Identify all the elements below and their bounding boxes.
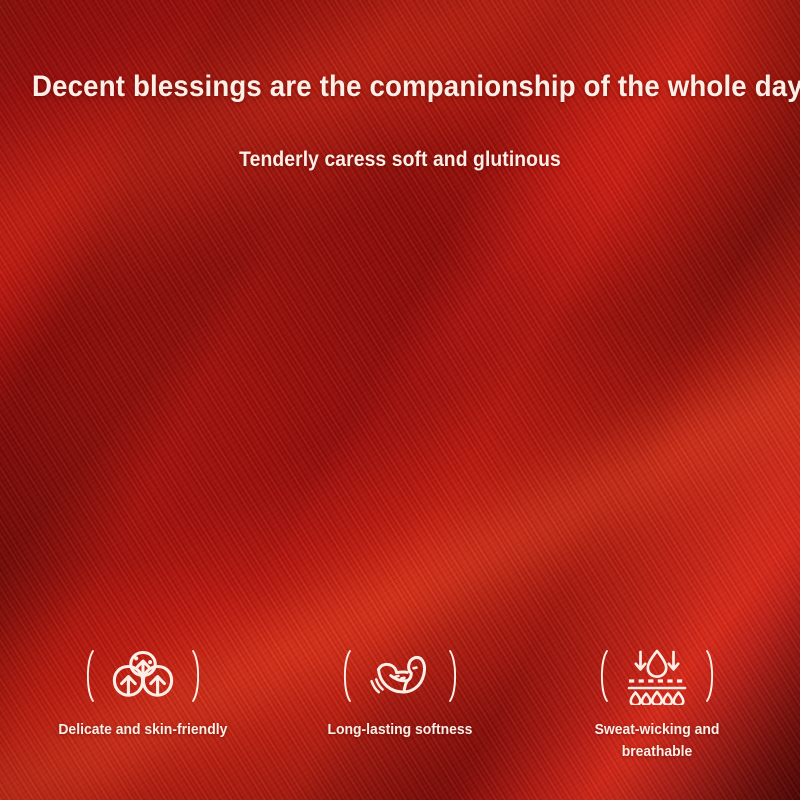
feature-icon-group <box>340 645 460 707</box>
bracket-right-icon <box>190 648 203 704</box>
feature-icon-group <box>597 645 717 707</box>
feature-list: Delicate and skin-friendly <box>0 645 800 762</box>
bracket-left-icon <box>597 648 610 704</box>
feature-label: Delicate and skin-friendly <box>58 719 227 740</box>
feature-item-skin-friendly: Delicate and skin-friendly <box>14 645 271 740</box>
banner-headline: Decent blessings are the companionship o… <box>32 70 768 104</box>
moisture-wicking-droplets-icon <box>620 647 694 705</box>
feature-item-softness: Long-lasting softness <box>271 645 528 740</box>
product-banner: Decent blessings are the companionship o… <box>0 0 800 800</box>
bracket-right-icon <box>704 648 717 704</box>
bracket-left-icon <box>83 648 96 704</box>
bracket-left-icon <box>340 648 353 704</box>
cotton-boll-arrows-icon <box>106 647 180 705</box>
feature-label: Sweat-wicking and breathable <box>588 719 728 762</box>
feature-label: Long-lasting softness <box>328 719 473 740</box>
banner-subheadline: Tenderly caress soft and glutinous <box>32 148 768 172</box>
feature-item-breathable: Sweat-wicking and breathable <box>529 645 786 762</box>
feature-icon-group <box>83 645 203 707</box>
folded-fabric-icon <box>363 647 437 705</box>
bracket-right-icon <box>447 648 460 704</box>
